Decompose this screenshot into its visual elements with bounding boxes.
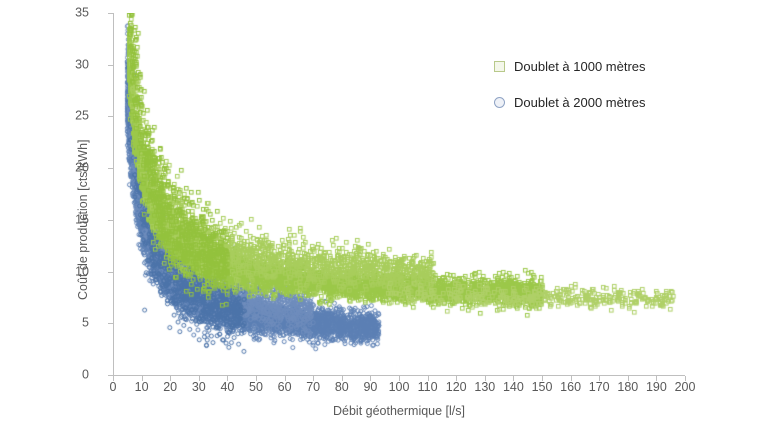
x-tick-label: 100	[389, 381, 410, 394]
x-tick-label: 190	[646, 381, 667, 394]
chart-figure: Coût de production [cts/kWh] 05101520253…	[0, 0, 760, 440]
x-tick-label: 70	[306, 381, 320, 394]
x-tick-label: 80	[335, 381, 349, 394]
x-tick-label: 180	[617, 381, 638, 394]
y-tick-label: 15	[0, 213, 100, 226]
x-tick-label: 130	[474, 381, 495, 394]
x-tick-label: 170	[589, 381, 610, 394]
chart-legend: Doublet à 1000 mètres Doublet à 2000 mèt…	[494, 55, 646, 127]
y-tick-label: 0	[0, 369, 100, 382]
x-tick-label: 50	[249, 381, 263, 394]
x-tick-label: 20	[163, 381, 177, 394]
y-tick-label: 10	[0, 265, 100, 278]
legend-item-doublet-2000[interactable]: Doublet à 2000 mètres	[494, 91, 646, 113]
x-tick-label: 60	[278, 381, 292, 394]
y-tick-label: 30	[0, 58, 100, 71]
legend-label: Doublet à 1000 mètres	[514, 59, 646, 74]
x-tick-label: 160	[560, 381, 581, 394]
x-tick-label: 40	[220, 381, 234, 394]
y-tick-label: 5	[0, 317, 100, 330]
legend-label: Doublet à 2000 mètres	[514, 95, 646, 110]
y-tick-label: 35	[0, 7, 100, 20]
x-tick-label: 120	[446, 381, 467, 394]
x-tick-label: 90	[363, 381, 377, 394]
x-axis-title: Débit géothermique [l/s]	[113, 404, 685, 418]
x-tick-label: 0	[110, 381, 117, 394]
legend-marker-circle-blue-icon	[494, 97, 505, 108]
x-tick-label: 110	[418, 381, 438, 394]
y-tick-label: 20	[0, 162, 100, 175]
x-tick-label: 10	[135, 381, 149, 394]
y-tick-label: 25	[0, 110, 100, 123]
x-tick-label: 200	[675, 381, 696, 394]
legend-marker-square-green-icon	[494, 61, 505, 72]
legend-item-doublet-1000[interactable]: Doublet à 1000 mètres	[494, 55, 646, 77]
x-tick-label: 140	[503, 381, 524, 394]
x-tick-label: 150	[532, 381, 553, 394]
x-tick-label: 30	[192, 381, 206, 394]
